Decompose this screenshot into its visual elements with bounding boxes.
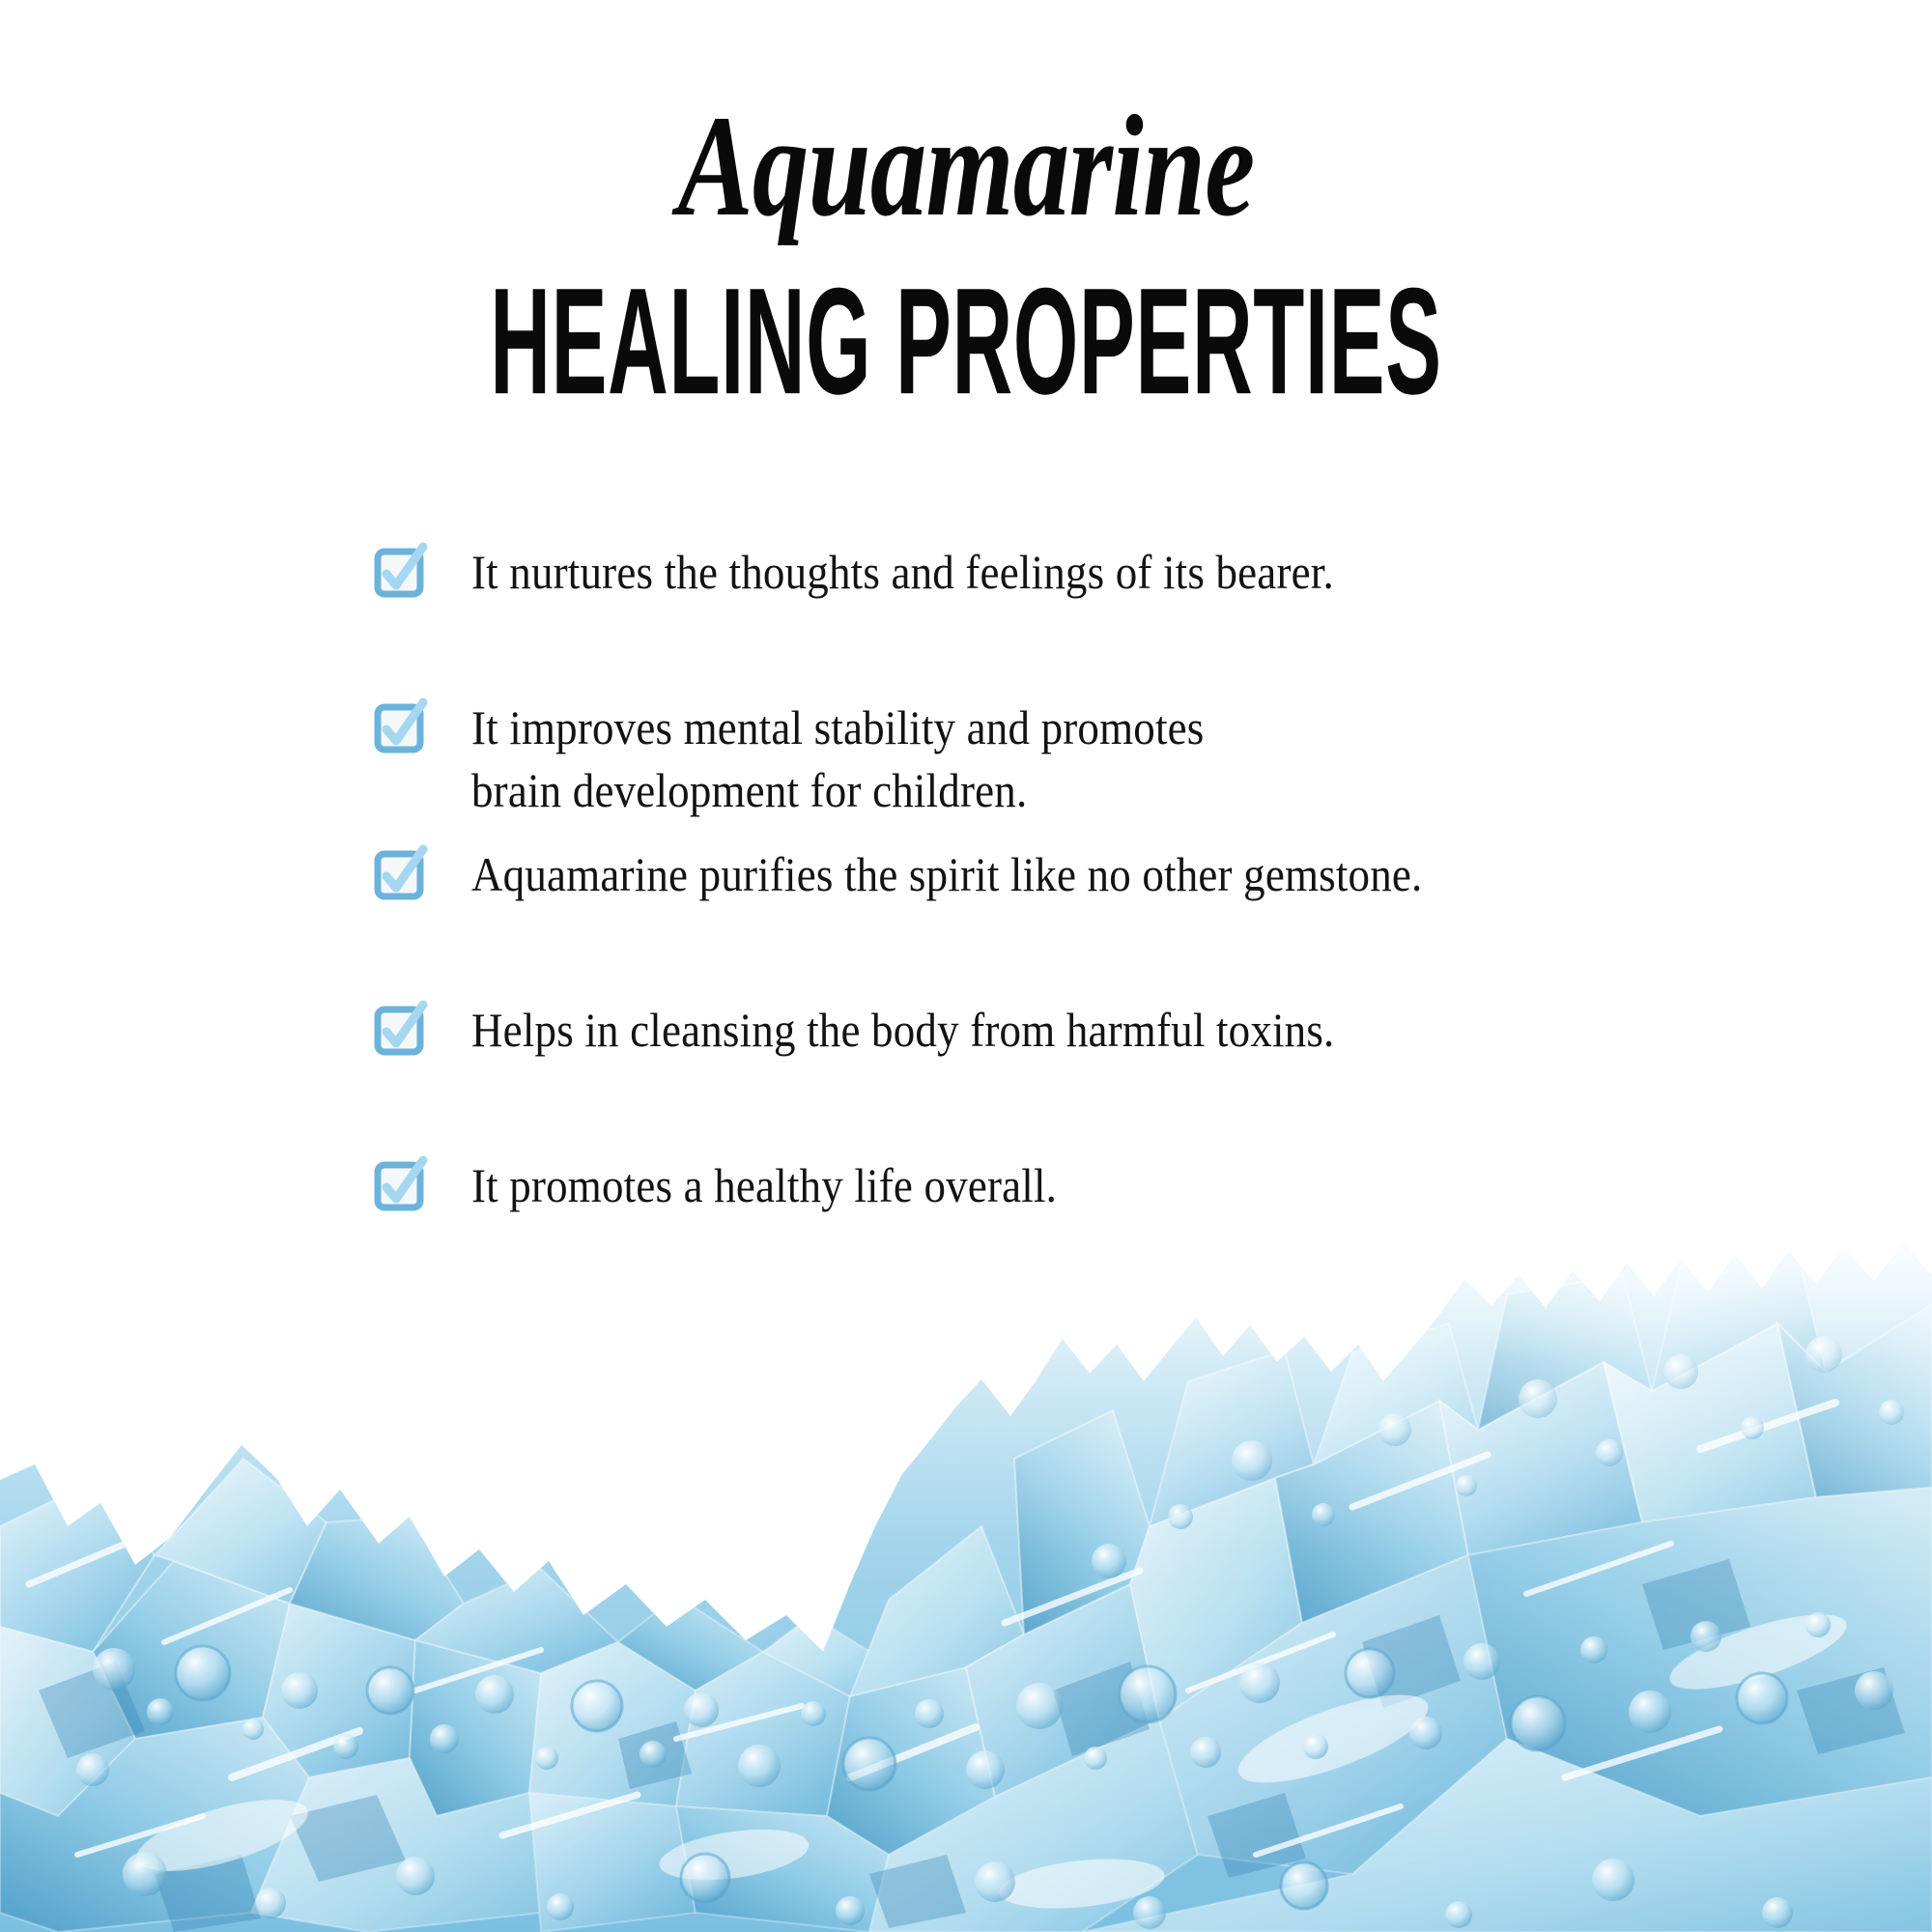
list-item-label: Helps in cleansing the body from harmful… xyxy=(471,999,1334,1062)
ice-cubes-photo xyxy=(0,1236,1932,1932)
poster-canvas: Aquamarine HEALING PROPERTIES It nurture… xyxy=(0,0,1932,1932)
list-item-label: Aquamarine purifies the spirit like no o… xyxy=(471,843,1422,906)
list-item-label: It improves mental stability and promote… xyxy=(471,696,1205,822)
heading-block: Aquamarine HEALING PROPERTIES xyxy=(0,93,1932,401)
checked-checkbox-icon xyxy=(375,1160,425,1210)
list-item: It promotes a healthy life overall. xyxy=(375,1154,1824,1217)
page-title: Aquamarine xyxy=(213,93,1719,241)
checked-checkbox-icon xyxy=(375,702,425,753)
list-item: It improves mental stability and promote… xyxy=(375,696,1824,822)
checked-checkbox-icon xyxy=(375,547,425,597)
healing-properties-list: It nurtures the thoughts and feelings of… xyxy=(375,541,1824,1217)
list-item: Helps in cleansing the body from harmful… xyxy=(375,999,1824,1062)
list-item-label: It promotes a healthy life overall. xyxy=(471,1154,1057,1217)
checked-checkbox-icon xyxy=(375,849,425,899)
page-subtitle: HEALING PROPERTIES xyxy=(367,266,1565,417)
list-item-label: It nurtures the thoughts and feelings of… xyxy=(471,541,1334,604)
checked-checkbox-icon xyxy=(375,1005,425,1055)
list-item: It nurtures the thoughts and feelings of… xyxy=(375,541,1824,604)
list-item: Aquamarine purifies the spirit like no o… xyxy=(375,843,1824,906)
